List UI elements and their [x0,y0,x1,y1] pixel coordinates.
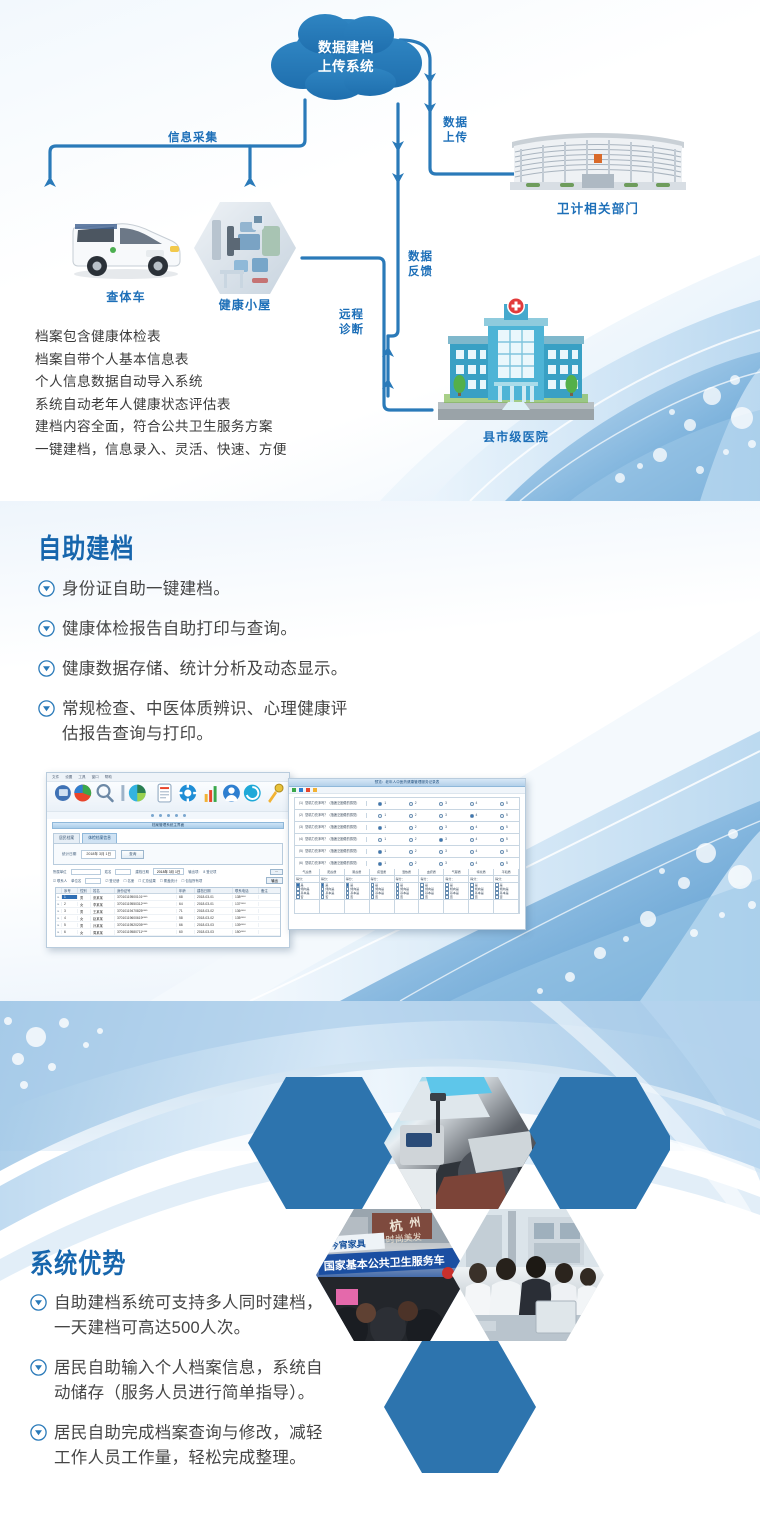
section-flow-diagram: 数据建档 上传系统 信息采集 数据上传 数据反馈 远程诊断 [0,0,760,501]
feature-line: 建档内容全面，符合公共卫生服务方案 [35,416,395,439]
list-item: 自助建档系统可支持多人同时建档， 一天建档可高达500人次。 [30,1291,470,1341]
constitution-column[interactable]: 气虚质得分：是倾向是基本是否 [295,869,320,913]
export-button[interactable]: 输出 [266,877,283,884]
radio-option[interactable]: 1 [367,825,397,829]
node-caption-hospital: 县市级医院 [430,428,602,445]
chevron-down-circle-icon [30,1424,47,1441]
constitution-column[interactable]: 特禀质得分：是倾向是基本是否 [469,869,494,913]
cloud-label: 数据建档 上传系统 [265,38,427,76]
table-cell: 6 [62,930,78,934]
table-cell: 4 [62,916,78,920]
node-caption-van: 查体车 [76,288,176,305]
table-row[interactable]: ▸6女周某某37010119580711****602018-03-03150*… [56,929,280,936]
radio-option[interactable]: 2 [397,861,427,865]
radio-option[interactable]: 1 [367,861,397,865]
table-cell: 139**** [233,923,259,927]
feature-line: 档案包含健康体检表 [35,326,395,349]
question-label: （3）您精力充沛吗？（指疲乏困倦的感觉） [295,825,367,830]
radio-option[interactable]: 2 [397,801,427,805]
table-cell: 135**** [233,916,259,920]
list-item: 身份证自助一键建档。 [38,577,508,602]
constitution-column[interactable]: 血瘀质得分：是倾向是基本是否 [419,869,444,913]
list-item-text: 自助建档系统可支持多人同时建档， [54,1294,323,1312]
hexagon-solid [248,1077,400,1209]
list-item-text: 健康数据存储、统计分析及动态显示。 [62,657,348,682]
section2-bullet-list: 身份证自助一键建档。 健康体检报告自助打印与查询。 健康数据存储、统计分析及动态… [38,577,508,762]
table-cell: 女 [78,930,91,935]
question-row[interactable]: （5）您精力充沛吗？（指疲乏困倦的感觉）12345 [294,845,520,857]
list-item-text: 估报告查询与打印。 [62,725,213,743]
col-header: 姓名 [91,888,115,893]
section-system-advantages: 杭 州 时尚美发 今宵家具 国家基本公共卫生服务车 [0,1001,760,1513]
column-header: 特禀质 [469,869,493,876]
radio-option[interactable]: 4 [458,849,488,853]
radio-option[interactable]: 3 [428,801,458,805]
radio-option[interactable]: 3 [428,861,458,865]
list-item-text: 居民自助输入个人档案信息，系统自 [54,1359,323,1377]
table-cell: 张某某 [91,895,115,900]
more-button[interactable]: ··· [270,869,283,875]
question-row[interactable]: （2）您精力充沛吗？（指疲乏困倦的感觉）12345 [294,809,520,821]
section3-title: 系统优势 [30,1249,126,1279]
government-building-photo [508,126,688,194]
radio-option[interactable]: 4 [458,813,488,817]
edge-label-feedback: 数据反馈 [408,250,433,280]
edge-label-upload: 数据上传 [443,116,468,146]
column-header: 阳虚质 [320,869,344,876]
radio-option[interactable]: 5 [489,813,519,817]
medical-van-photo [66,206,186,280]
list-item: 居民自助完成档案查询与修改，减轻 工作人员工作量，轻松完成整理。 [30,1421,470,1471]
column-header: 平和质 [494,869,518,876]
table-cell: 137**** [233,902,259,906]
svg-text:杭: 杭 [389,1218,404,1235]
table-cell: 男 [78,909,91,914]
feature-line: 档案自带个人基本信息表 [35,349,395,372]
table-row[interactable]: ▸1男张某某37010119500101****682018-03-01138*… [56,894,280,901]
constitution-column[interactable]: 阴虚质得分：是倾向是基本是否 [345,869,370,913]
column-header: 气郁质 [444,869,468,876]
date-input[interactable]: 2018年 3月 1日 [81,850,116,859]
table-cell: 2018-03-03 [195,930,233,934]
table-row[interactable]: ▸5男孙某某37010119520205****662018-03-03139*… [56,922,280,929]
question-label: （4）您精力充沛吗？（指疲乏困倦的感觉） [295,837,367,842]
data-table[interactable]: 序号 性别 姓名 身份证号 年龄 建档日期 联系电话 备注 ▸1男张某某3701… [55,887,281,937]
table-cell: 2018-03-01 [195,895,233,899]
question-row[interactable]: （1）您精力充沛吗？（指疲乏困倦的感觉）12345 [294,797,520,809]
radio-option[interactable]: 2 [397,837,427,841]
question-row[interactable]: （6）您精力充沛吗？（指疲乏困倦的感觉）12345 [294,857,520,869]
table-cell: 37010119550312**** [115,902,177,906]
table-row[interactable]: ▸3男王某某37010119470825****712018-03-02136*… [56,908,280,915]
radio-option[interactable]: 5 [489,861,519,865]
column-header: 气虚质 [295,869,319,876]
radio-option[interactable]: 1 [367,813,397,817]
radio-option[interactable]: 1 [367,849,397,853]
filed-date-input[interactable]: 2018年 3月 1日 [153,868,184,875]
photo-hexagon-exam [384,1077,536,1209]
table-row[interactable]: ▸4女赵某某37010119600619****582018-03-02135*… [56,915,280,922]
radio-option[interactable]: 1 [367,801,397,805]
table-cell: 37010119600619**** [115,916,177,920]
radio-option[interactable]: 4 [458,825,488,829]
feature-line: 个人信息数据自动导入系统 [35,371,395,394]
list-item: 居民自助输入个人档案信息，系统自 动储存（服务人员进行简单指导）。 [30,1356,470,1406]
radio-option[interactable]: 4 [458,801,488,805]
list-item-text: 居民自助完成档案查询与修改，减轻 [54,1424,323,1442]
table-cell: 71 [177,909,195,913]
menu-item[interactable]: 设置 [65,775,72,780]
chevron-down-circle-icon [38,580,55,597]
table-cell: 周某某 [91,930,115,935]
question-row[interactable]: （3）您精力充沛吗？（指疲乏困倦的感觉）12345 [294,821,520,833]
column-header: 阴虚质 [345,869,369,876]
radio-option[interactable]: 2 [397,813,427,817]
table-cell: 136**** [233,909,259,913]
health-hut-photo [190,198,300,298]
col-header: 身份证号 [115,888,177,893]
chevron-down-circle-icon [38,700,55,717]
chevron-down-circle-icon [30,1359,47,1376]
col-header: 性别 [78,888,91,893]
feature-line: 系统自动老年人健康状态评估表 [35,394,395,417]
table-cell: 女 [78,916,91,921]
menu-item[interactable]: 帮助 [105,775,112,780]
list-item-text: 一天建档可高达500人次。 [54,1319,250,1337]
table-cell: 64 [177,902,195,906]
table-cell: 男 [78,923,91,928]
edge-label-collect: 信息采集 [168,131,218,146]
unit-input[interactable] [71,869,101,875]
feature-line: 一键建档，信息录入、灵活、快速、方便 [35,439,395,462]
radio-option[interactable]: 2 [397,825,427,829]
table-cell: 王某某 [91,909,115,914]
table-cell: 2 [62,902,78,906]
query-button[interactable]: 查询 [121,850,144,859]
table-cell: 赵某某 [91,916,115,921]
radio-option[interactable]: 5 [489,825,519,829]
table-cell: 66 [177,923,195,927]
list-item-text: 身份证自助一键建档。 [62,577,230,602]
county-hospital-illustration [430,296,602,424]
table-cell: 1 [62,895,78,899]
chevron-down-circle-icon [38,620,55,637]
table-cell: 男 [78,895,91,900]
menu-item[interactable]: 窗口 [92,775,99,780]
radio-option[interactable]: 2 [397,849,427,853]
section2-title: 自助建档 [38,534,134,564]
table-cell: 60 [177,930,195,934]
list-item-text: 常规检查、中医体质辨识、心理健康评 [62,700,348,718]
table-cell: 2018-03-02 [195,916,233,920]
list-item-text: 健康体检报告自助打印与查询。 [62,617,297,642]
list-item: 常规检查、中医体质辨识、心理健康评 估报告查询与打印。 [38,697,508,747]
table-cell: 37010119580711**** [115,930,177,934]
radio-option[interactable]: 5 [489,801,519,805]
chevron-down-circle-icon [38,660,55,677]
col-header: 建档日期 [195,888,233,893]
table-row[interactable]: ▸2女李某某37010119550312****642018-03-01137*… [56,901,280,908]
chevron-down-circle-icon [30,1294,47,1311]
col-header: 年龄 [177,888,195,893]
table-cell: 150**** [233,930,259,934]
photo-hexagon-staff [452,1209,604,1341]
list-item-text: 动储存（服务人员进行简单指导）。 [54,1384,315,1402]
cloud-node: 数据建档 上传系统 [265,8,427,112]
radio-option[interactable]: 4 [458,837,488,841]
radio-option[interactable]: 5 [489,849,519,853]
window-title: 预览：老年人中医药健康管理服务记录表 [375,780,440,785]
table-cell: 37010119470825**** [115,909,177,913]
table-cell: 女 [78,902,91,907]
feature-line-list: 档案包含健康体检表 档案自带个人基本信息表 个人信息数据自动导入系统 系统自动老… [35,326,395,461]
table-cell: 138**** [233,895,259,899]
table-cell: 2018-03-01 [195,902,233,906]
table-cell: 58 [177,916,195,920]
section3-bullet-list: 自助建档系统可支持多人同时建档， 一天建档可高达500人次。 居民自助输入个人档… [30,1291,470,1486]
radio-option[interactable]: 1 [367,837,397,841]
table-cell: 2018-03-03 [195,923,233,927]
radio-option[interactable]: 4 [458,861,488,865]
screenshot-archive-manager[interactable]: 文件 设置 工具 窗口 帮助 [46,772,290,948]
table-cell: 孙某某 [91,923,115,928]
radio-option[interactable]: 3 [428,849,458,853]
list-item: 健康数据存储、统计分析及动态显示。 [38,657,508,682]
constitution-column[interactable]: 平和质得分：是倾向是基本是否 [494,869,519,913]
screenshot-tcm-questionnaire[interactable]: 预览：老年人中医药健康管理服务记录表 （1）您精力充沛吗？（指疲乏困倦的感觉）1… [288,778,526,930]
table-cell: 李某某 [91,902,115,907]
question-label: （5）您精力充沛吗？（指疲乏困倦的感觉） [295,849,367,854]
question-label: （1）您精力充沛吗？（指疲乏困倦的感觉） [295,801,367,806]
table-cell: 2018-03-02 [195,909,233,913]
radio-option[interactable]: 3 [428,813,458,817]
tab-residents[interactable]: 居民档案 [53,833,80,843]
menu-item[interactable]: 文件 [52,775,59,780]
list-item-text: 工作人员工作量，轻松完成整理。 [54,1449,306,1467]
question-label: （6）您精力充沛吗？（指疲乏困倦的感觉） [295,861,367,866]
node-caption-hut: 健康小屋 [195,296,295,313]
radio-option[interactable]: 3 [428,825,458,829]
tab-strip[interactable]: 居民档案 体检档案信息 [53,833,283,843]
svg-text:州: 州 [408,1216,422,1231]
constitution-column[interactable]: 痰湿质得分：是倾向是基本是否 [370,869,395,913]
question-label: （2）您精力充沛吗？（指疲乏困倦的感觉） [295,813,367,818]
table-cell: 37010119500101**** [115,895,177,899]
inner-window-title: 档案管理系统主界面 [152,823,184,828]
list-item: 健康体检报告自助打印与查询。 [38,617,508,642]
column-header: 痰湿质 [370,869,394,876]
marketing-page: 数据建档 上传系统 信息采集 数据上传 数据反馈 远程诊断 [0,0,760,1513]
name-input[interactable] [115,869,131,875]
table-cell: 37010119520205**** [115,923,177,927]
table-cell: 3 [62,909,78,913]
node-caption-gov: 卫计相关部门 [508,198,688,217]
radio-option[interactable]: 5 [489,837,519,841]
table-cell: 5 [62,923,78,927]
constitution-column[interactable]: 气郁质得分：是倾向是基本是否 [444,869,469,913]
col-header: 序号 [62,888,78,893]
hexagon-solid [522,1077,670,1209]
menu-item[interactable]: 工具 [78,775,85,780]
constitution-column[interactable]: 湿热质得分：是倾向是基本是否 [395,869,420,913]
question-row[interactable]: （4）您精力充沛吗？（指疲乏困倦的感觉）12345 [294,833,520,845]
table-cell: 68 [177,895,195,899]
toolbar[interactable] [47,782,289,812]
column-header: 血瘀质 [419,869,443,876]
constitution-column[interactable]: 阳虚质得分：是倾向是基本是否 [320,869,345,913]
tab-exam-records[interactable]: 体检档案信息 [82,833,117,843]
radio-option[interactable]: 3 [428,837,458,841]
column-header: 湿热质 [395,869,419,876]
col-header: 联系电话 [233,888,259,893]
col-header: 备注 [259,888,280,893]
